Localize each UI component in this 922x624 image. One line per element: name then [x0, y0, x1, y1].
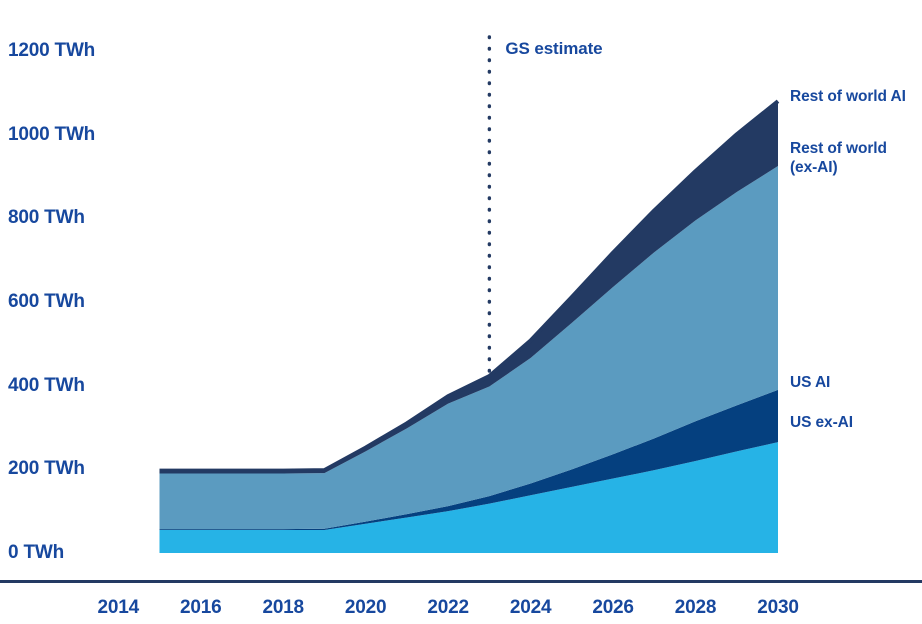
- x-tick-label: 2026: [592, 598, 633, 617]
- chart-root: 0 TWh200 TWh400 TWh600 TWh800 TWh1000 TW…: [0, 0, 922, 624]
- x-tick-label: 2022: [427, 598, 468, 617]
- y-tick-label: 400 TWh: [8, 376, 85, 395]
- y-tick-label: 1000 TWh: [8, 125, 95, 144]
- x-axis-line: [0, 580, 922, 583]
- y-tick-label: 1200 TWh: [8, 41, 95, 60]
- series-label-rest-of-world-ex-ai: Rest of world (ex-AI): [790, 140, 887, 178]
- gs-estimate-annotation-label: GS estimate: [505, 40, 602, 57]
- x-tick-label: 2018: [262, 598, 303, 617]
- x-tick-label: 2024: [510, 598, 551, 617]
- y-tick-label: 600 TWh: [8, 292, 85, 311]
- stacked-area-plot: [0, 0, 922, 624]
- x-tick-label: 2028: [675, 598, 716, 617]
- y-tick-label: 800 TWh: [8, 208, 85, 227]
- series-label-us-ex-ai: US ex-AI: [790, 414, 853, 433]
- x-tick-label: 2014: [98, 598, 139, 617]
- x-tick-label: 2030: [757, 598, 798, 617]
- y-tick-label: 200 TWh: [8, 459, 85, 478]
- x-tick-label: 2020: [345, 598, 386, 617]
- y-tick-label: 0 TWh: [8, 543, 64, 562]
- series-label-rest-of-world-ai: Rest of world AI: [790, 88, 906, 107]
- series-label-us-ai: US AI: [790, 374, 830, 393]
- x-tick-label: 2016: [180, 598, 221, 617]
